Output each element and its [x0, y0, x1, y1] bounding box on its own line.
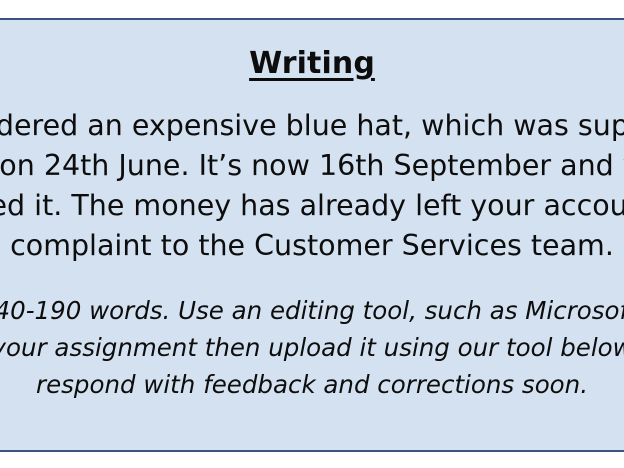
submission-instructions-paragraph: Write 140-190 words. Use an editing tool… — [0, 266, 624, 403]
submission-instructions-line-2: to write your assignment then upload it … — [0, 329, 624, 366]
slide-root: Writing You ordered an expensive blue ha… — [0, 0, 624, 468]
task-prompt-line-2: to arrive on 24th June. It’s now 16th Se… — [0, 146, 624, 186]
page-title-text: Writing — [249, 46, 375, 81]
task-prompt-paragraph: You ordered an expensive blue hat, which… — [0, 82, 624, 266]
submission-instructions-line-3: respond with feedback and corrections so… — [0, 366, 624, 403]
task-prompt-line-3: not received it. The money has already l… — [0, 186, 624, 226]
slide-text-stage: Writing You ordered an expensive blue ha… — [0, 20, 624, 403]
submission-instructions-line-1: Write 140-190 words. Use an editing tool… — [0, 292, 624, 329]
content-panel: Writing You ordered an expensive blue ha… — [0, 18, 624, 452]
page-title: Writing — [0, 20, 624, 82]
task-prompt-line-4: complaint to the Customer Services team. — [0, 226, 624, 266]
task-prompt-line-1: You ordered an expensive blue hat, which… — [0, 106, 624, 146]
